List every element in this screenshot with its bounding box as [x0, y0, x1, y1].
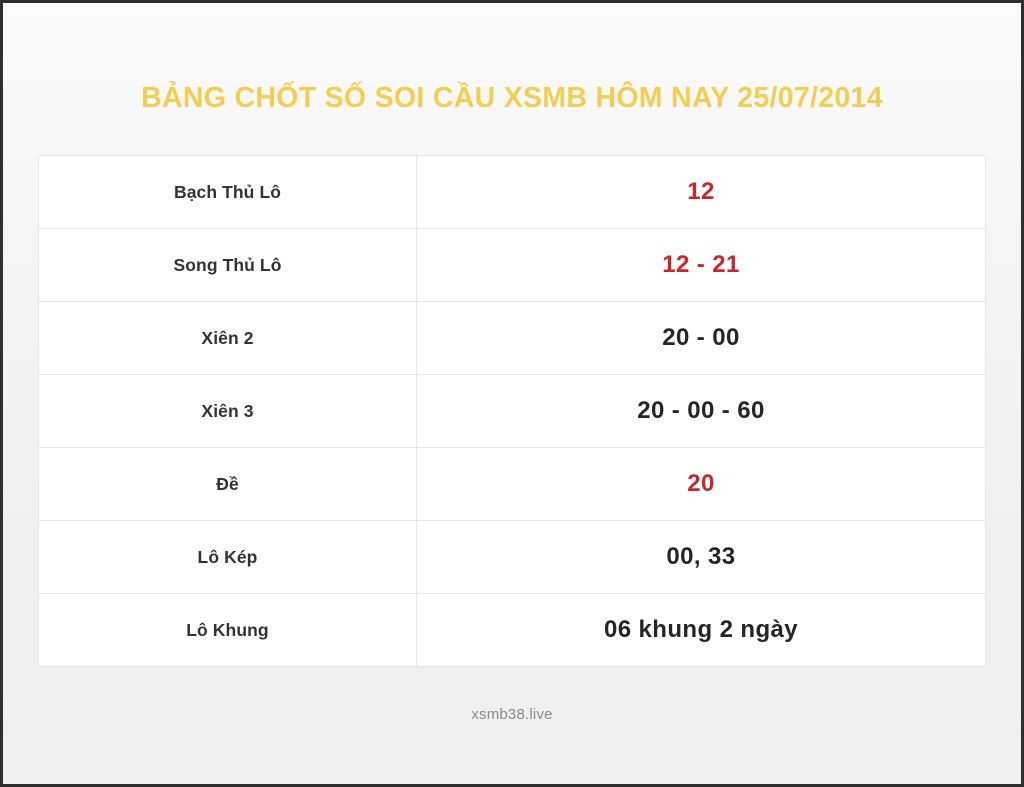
table-row: Lô Kép00, 33: [39, 521, 986, 594]
site-watermark: xsmb38.live: [3, 706, 1021, 723]
row-value: 06 khung 2 ngày: [417, 594, 986, 667]
row-value: 00, 33: [417, 521, 986, 594]
table-row: Đề20: [39, 448, 986, 521]
row-value: 12 - 21: [417, 229, 986, 302]
table-row: Lô Khung06 khung 2 ngày: [39, 594, 986, 667]
row-value: 20: [417, 448, 986, 521]
soi-cau-table: Bạch Thủ Lô12Song Thủ Lô12 - 21Xiên 220 …: [38, 155, 986, 667]
table-row: Song Thủ Lô12 - 21: [39, 229, 986, 302]
row-label: Bạch Thủ Lô: [39, 156, 417, 229]
row-label: Song Thủ Lô: [39, 229, 417, 302]
row-label: Xiên 2: [39, 302, 417, 375]
row-value: 20 - 00 - 60: [417, 375, 986, 448]
page-canvas: BẢNG CHỐT SỐ SOI CẦU XSMB HÔM NAY 25/07/…: [3, 3, 1021, 784]
page-title: BẢNG CHỐT SỐ SOI CẦU XSMB HÔM NAY 25/07/…: [3, 82, 1021, 115]
row-value: 12: [417, 156, 986, 229]
result-card: BẢNG CHỐT SỐ SOI CẦU XSMB HÔM NAY 25/07/…: [3, 3, 1021, 784]
table-body: Bạch Thủ Lô12Song Thủ Lô12 - 21Xiên 220 …: [39, 156, 986, 667]
row-label: Lô Kép: [39, 521, 417, 594]
row-value: 20 - 00: [417, 302, 986, 375]
table-row: Xiên 220 - 00: [39, 302, 986, 375]
table-row: Bạch Thủ Lô12: [39, 156, 986, 229]
row-label: Xiên 3: [39, 375, 417, 448]
row-label: Đề: [39, 448, 417, 521]
table-row: Xiên 320 - 00 - 60: [39, 375, 986, 448]
row-label: Lô Khung: [39, 594, 417, 667]
